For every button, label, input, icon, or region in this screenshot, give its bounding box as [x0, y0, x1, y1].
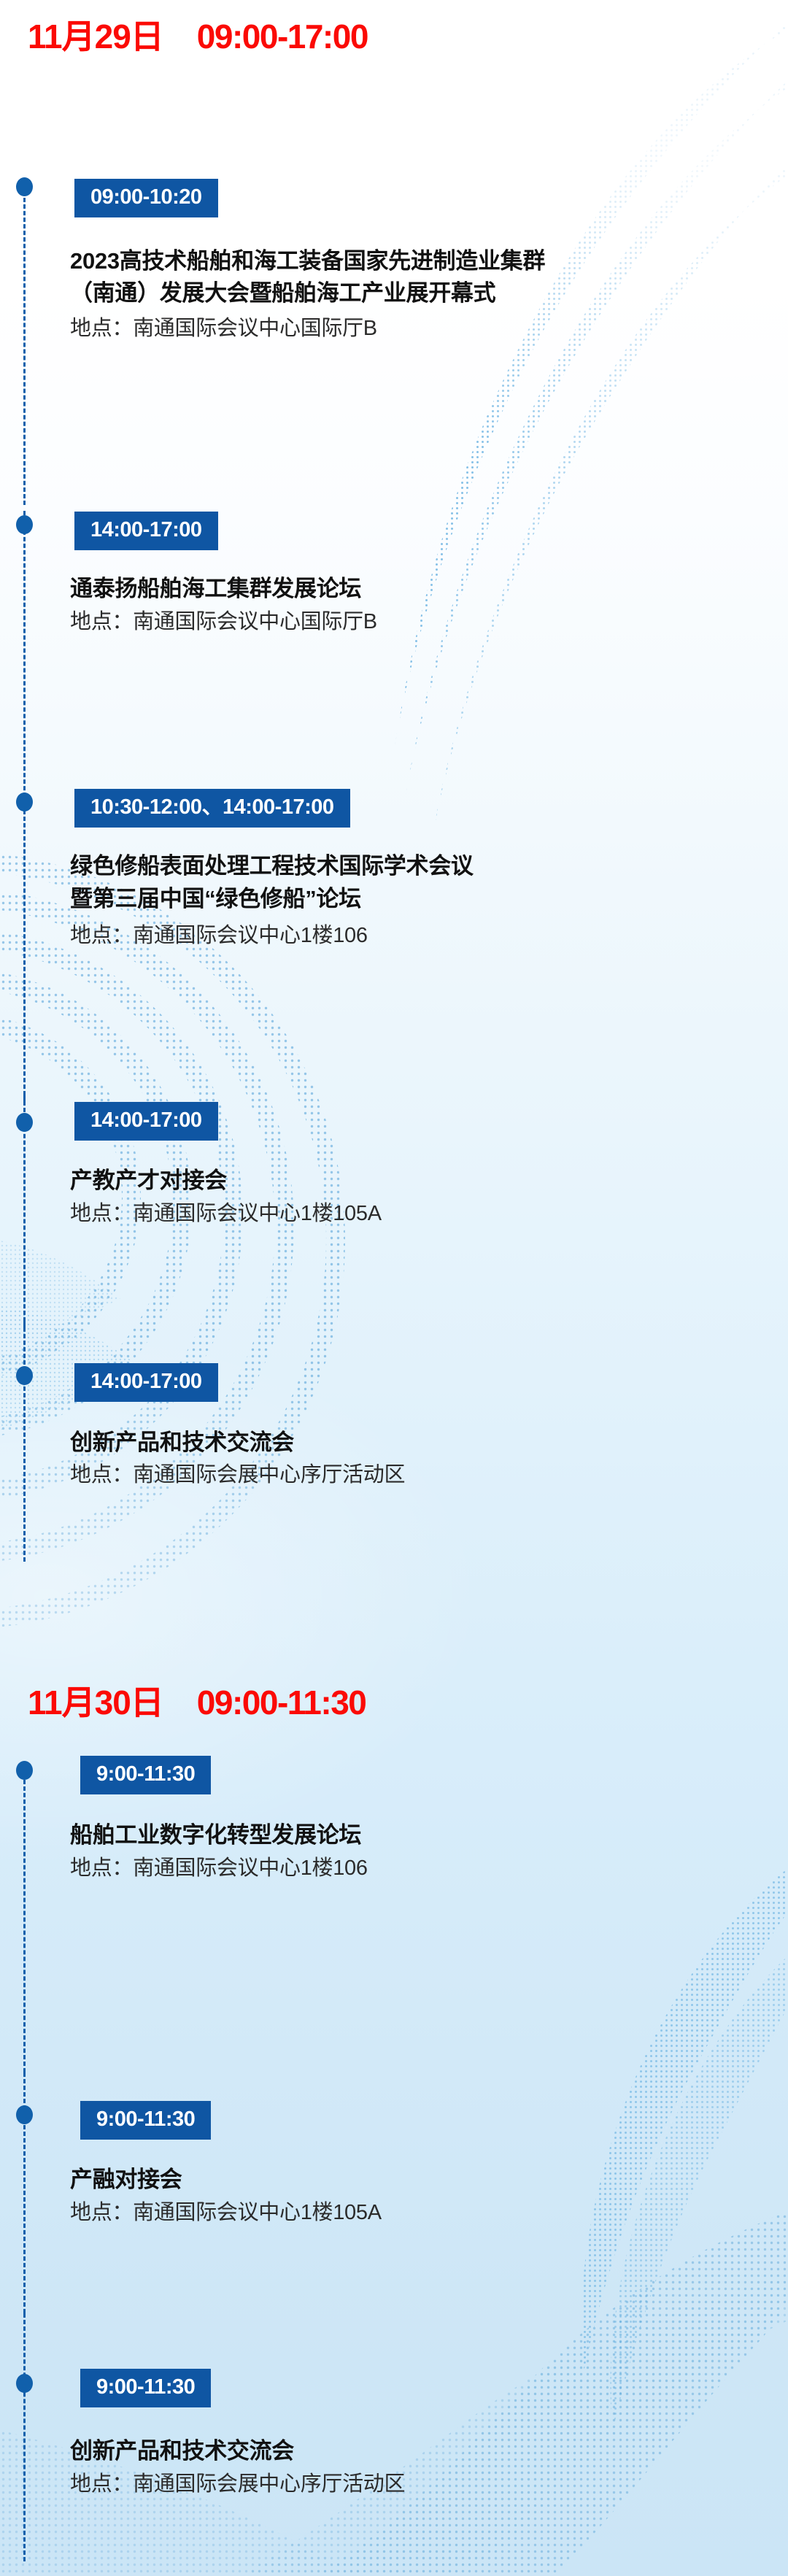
day-header-1: 11月29日 09:00-17:00 [28, 10, 368, 58]
event-location: 地点：南通国际会议中心1楼106 [70, 921, 368, 950]
event-time-badge[interactable]: 9:00-11:30 [80, 2101, 211, 2140]
event-location: 地点：南通国际会议中心1楼106 [70, 1854, 368, 1883]
event-location: 地点：南通国际会议中心1楼105A [70, 2198, 382, 2227]
event-location: 地点：南通国际会议中心国际厅B [70, 607, 377, 636]
event-time-badge[interactable]: 9:00-11:30 [80, 1756, 211, 1794]
event-location: 地点：南通国际会议中心1楼105A [70, 1199, 382, 1228]
event-title-line: 2023高技术船舶和海工装备国家先进制造业集群 [70, 245, 545, 277]
event-title-line: 通泰扬船舶海工集群发展论坛 [70, 573, 361, 605]
timeline-dot [16, 2374, 33, 2393]
event-location: 地点：南通国际会议中心国际厅B [70, 314, 377, 343]
event-time-badge[interactable]: 9:00-11:30 [80, 2369, 211, 2407]
timeline-dot [16, 1366, 33, 1385]
timeline-dot [16, 793, 33, 811]
day-time-range: 09:00-11:30 [197, 1683, 366, 1722]
event-title-line: 暨第三届中国“绿色修船”论坛 [70, 883, 361, 915]
timeline-line [23, 511, 26, 810]
day-header-2: 11月30日 09:00-11:30 [28, 1676, 366, 1724]
timeline-line [23, 191, 26, 505]
event-title-line: 产教产才对接会 [70, 1165, 227, 1197]
event-title-line: 船舶工业数字化转型发展论坛 [70, 1819, 361, 1851]
event-title-line: 创新产品和技术交流会 [70, 2435, 294, 2467]
timeline-dot [16, 177, 33, 196]
event-time-badge[interactable]: 09:00-10:20 [74, 179, 218, 217]
event-location: 地点：南通国际会展中心序厅活动区 [70, 2469, 405, 2499]
timeline-line [23, 810, 26, 1102]
event-title-line: 绿色修船表面处理工程技术国际学术会议 [70, 850, 474, 882]
timeline-dot [16, 1761, 33, 1780]
timeline-line [23, 1321, 26, 1562]
day-time-range: 09:00-17:00 [197, 17, 368, 56]
event-time-badge[interactable]: 10:30-12:00、14:00-17:00 [74, 789, 350, 828]
event-time-badge[interactable]: 14:00-17:00 [74, 512, 218, 550]
day-date: 11月30日 [28, 1676, 163, 1724]
timeline-line [23, 2313, 26, 2561]
timeline-dot [16, 1113, 33, 1132]
timeline-line [23, 1773, 26, 2072]
timeline-dot [16, 2105, 33, 2124]
timeline-dot [16, 515, 33, 534]
event-time-badge[interactable]: 14:00-17:00 [74, 1363, 218, 1402]
event-title-line: 产融对接会 [70, 2164, 182, 2196]
event-location: 地点：南通国际会展中心序厅活动区 [70, 1460, 405, 1489]
event-title-line: 创新产品和技术交流会 [70, 1427, 294, 1459]
event-title-line: （南通）发展大会暨船舶海工产业展开幕式 [70, 277, 495, 309]
event-time-badge[interactable]: 14:00-17:00 [74, 1102, 218, 1141]
day-date: 11月29日 [28, 10, 163, 58]
